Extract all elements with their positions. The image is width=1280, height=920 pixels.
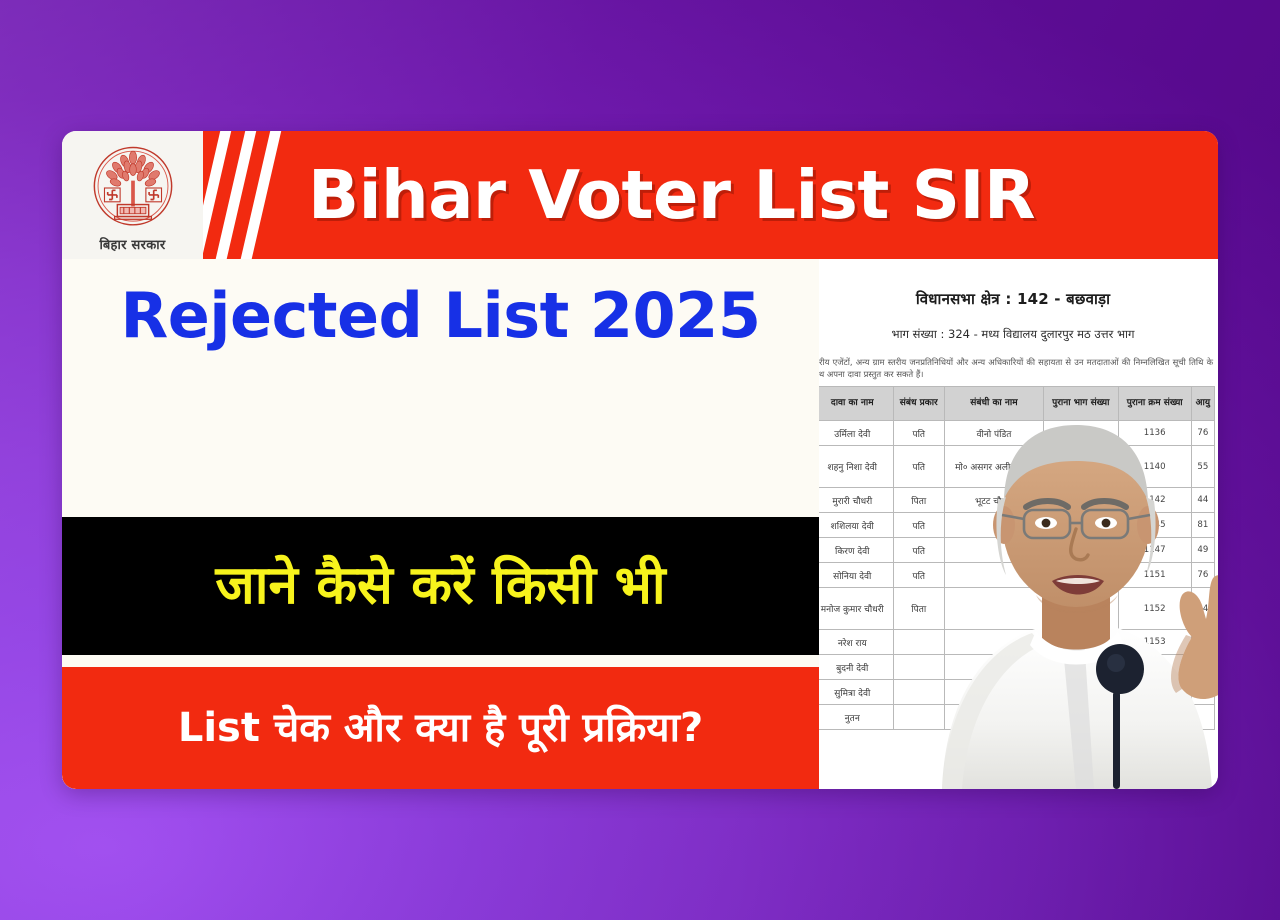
- table-cell: [1191, 655, 1214, 680]
- table-cell: [1043, 488, 1118, 513]
- table-cell: पति: [893, 513, 944, 538]
- table-cell: शहनु निशा देवी: [819, 446, 893, 488]
- headline-band-black: जाने कैसे करें किसी भी: [62, 517, 819, 655]
- table-cell: [944, 588, 1043, 630]
- poster-card: बिहार सरकार Bihar Voter List SIR Rejecte…: [62, 131, 1218, 789]
- document-subheading: भाग संख्या : 324 - मध्य विद्यालय दुलारपु…: [819, 327, 1215, 342]
- headline-line-yellow: जाने कैसे करें किसी भी: [215, 556, 665, 617]
- table-cell: मुरारी चौधरी: [819, 488, 893, 513]
- table-cell: पति: [893, 421, 944, 446]
- table-row: शशिलया देवीपति114581: [819, 513, 1215, 538]
- document-preview-panel: विधानसभा क्षेत्र : 142 - बछवाड़ा भाग संख…: [819, 259, 1218, 789]
- table-header-cell: संबंधी का नाम: [944, 387, 1043, 421]
- table-cell: [1118, 705, 1191, 730]
- table-cell: 1145: [1118, 513, 1191, 538]
- table-row: शहनु निशा देवीपतिमो० असगर अली चौधरी26811…: [819, 446, 1215, 488]
- table-cell: [1118, 655, 1191, 680]
- table-cell: [1118, 680, 1191, 705]
- table-cell: पति: [893, 446, 944, 488]
- voter-list-table: दावा का नाम संबंध प्रकार संबंधी का नाम प…: [819, 386, 1215, 730]
- table-cell: 55: [1191, 446, 1214, 488]
- table-cell: किरण देवी: [819, 538, 893, 563]
- table-cell: 44: [1191, 588, 1214, 630]
- table-row: मुरारी चौधरीपिताभूटट चौधरी114244: [819, 488, 1215, 513]
- table-cell: पति: [893, 538, 944, 563]
- table-header-cell: पुराना भाग संख्या: [1043, 387, 1118, 421]
- emblem-container: बिहार सरकार: [62, 131, 203, 259]
- table-header-cell: दावा का नाम: [819, 387, 893, 421]
- headline-band-red: List चेक और क्या है पूरी प्रक्रिया?: [62, 667, 819, 789]
- table-header-cell: आयु: [1191, 387, 1214, 421]
- table-cell: [1043, 705, 1118, 730]
- table-cell: मो० असगर अली चौधरी: [944, 446, 1043, 488]
- table-cell: 81: [1191, 513, 1214, 538]
- table-cell: 49: [1191, 538, 1214, 563]
- table-body: उर्मिला देवीपतिवीनो पंडित268113676शहनु न…: [819, 421, 1215, 730]
- table-cell: [893, 655, 944, 680]
- table-cell: शशिलया देवी: [819, 513, 893, 538]
- table-row: किरण देवीपति114749: [819, 538, 1215, 563]
- table-cell: [1191, 680, 1214, 705]
- table-cell: भूटट चौधरी: [944, 488, 1043, 513]
- table-cell: [944, 513, 1043, 538]
- table-header-cell: पुराना क्रम संख्या: [1118, 387, 1191, 421]
- table-cell: पिता: [893, 488, 944, 513]
- table-cell: 58: [1191, 630, 1214, 655]
- diagonal-stripes-decoration: [203, 131, 319, 259]
- table-cell: [1191, 705, 1214, 730]
- table-cell: 1142: [1118, 488, 1191, 513]
- table-cell: 1151: [1118, 563, 1191, 588]
- table-cell: [1043, 538, 1118, 563]
- table-cell: 1153: [1118, 630, 1191, 655]
- table-cell: [944, 655, 1043, 680]
- document-paragraph: स्तरीय एजेंटों, अन्य ग्राम स्तरीय जनप्रत…: [819, 356, 1213, 380]
- table-cell: [893, 680, 944, 705]
- table-cell: 268: [1043, 421, 1118, 446]
- table-cell: उर्मिला देवी: [819, 421, 893, 446]
- table-header-cell: संबंध प्रकार: [893, 387, 944, 421]
- table-row: मनोज कुमार चौधरीपिता115244: [819, 588, 1215, 630]
- table-cell: सुमित्रा देवी: [819, 680, 893, 705]
- table-header-row: दावा का नाम संबंध प्रकार संबंधी का नाम प…: [819, 387, 1215, 421]
- table-cell: 1152: [1118, 588, 1191, 630]
- document-content: विधानसभा क्षेत्र : 142 - बछवाड़ा भाग संख…: [819, 259, 1218, 730]
- headline-line-white: List चेक और क्या है पूरी प्रक्रिया?: [178, 704, 703, 752]
- headline-line-blue: Rejected List 2025: [62, 273, 819, 359]
- bihar-government-emblem-icon: [87, 142, 179, 234]
- table-row: बुदनी देवी: [819, 655, 1215, 680]
- table-row: सुमित्रा देवी: [819, 680, 1215, 705]
- table-cell: [1043, 680, 1118, 705]
- table-row: नरेश राय115358: [819, 630, 1215, 655]
- table-cell: [1043, 563, 1118, 588]
- table-cell: 76: [1191, 421, 1214, 446]
- table-cell: [1043, 655, 1118, 680]
- table-cell: सोनिया देवी: [819, 563, 893, 588]
- table-cell: बुदनी देवी: [819, 655, 893, 680]
- table-cell: वीनो पंडित: [944, 421, 1043, 446]
- document-heading: विधानसभा क्षेत्र : 142 - बछवाड़ा: [819, 289, 1215, 309]
- table-cell: 1136: [1118, 421, 1191, 446]
- table-cell: [1043, 630, 1118, 655]
- table-cell: [893, 705, 944, 730]
- card-header: बिहार सरकार Bihar Voter List SIR: [62, 131, 1218, 259]
- table-cell: 268: [1043, 446, 1118, 488]
- table-cell: [944, 680, 1043, 705]
- table-cell: 76: [1191, 563, 1214, 588]
- table-row: सोनिया देवीपति115176: [819, 563, 1215, 588]
- table-cell: पति: [893, 563, 944, 588]
- title-banner: Bihar Voter List SIR: [203, 131, 1218, 259]
- table-cell: नुतन: [819, 705, 893, 730]
- headline-column: Rejected List 2025 जाने कैसे करें किसी भ…: [62, 259, 819, 789]
- table-cell: मनोज कुमार चौधरी: [819, 588, 893, 630]
- page-title: Bihar Voter List SIR: [308, 162, 1035, 229]
- table-cell: [893, 630, 944, 655]
- table-cell: [944, 630, 1043, 655]
- table-cell: [944, 538, 1043, 563]
- table-cell: पिता: [893, 588, 944, 630]
- table-cell: [1043, 513, 1118, 538]
- table-cell: 1147: [1118, 538, 1191, 563]
- table-cell: [944, 563, 1043, 588]
- table-row: नुतन: [819, 705, 1215, 730]
- table-cell: [1043, 588, 1118, 630]
- table-cell: 44: [1191, 488, 1214, 513]
- table-cell: [944, 705, 1043, 730]
- table-row: उर्मिला देवीपतिवीनो पंडित268113676: [819, 421, 1215, 446]
- table-cell: नरेश राय: [819, 630, 893, 655]
- table-cell: 1140: [1118, 446, 1191, 488]
- emblem-caption: बिहार सरकार: [99, 235, 165, 253]
